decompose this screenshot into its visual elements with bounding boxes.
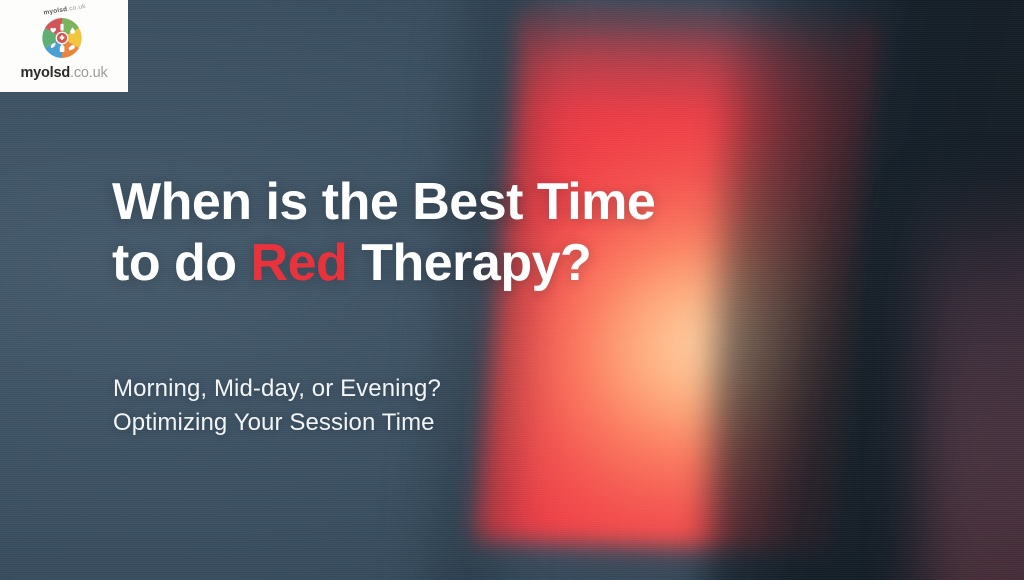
headline-accent-word: Red (251, 234, 348, 292)
subheadline: Morning, Mid-day, or Evening? Optimizing… (113, 372, 441, 440)
subheadline-line-2: Optimizing Your Session Time (113, 406, 441, 440)
brand-logo-card[interactable]: myolsd.co.uk (0, 0, 128, 92)
logo-arc-tld: .co.uk (67, 3, 86, 13)
headline-line-1: When is the Best Time (112, 172, 655, 233)
subheadline-line-1: Morning, Mid-day, or Evening? (113, 372, 441, 406)
logo-circle-icon (40, 16, 84, 60)
logo-mark: myolsd.co.uk (38, 5, 90, 57)
slide-canvas: myolsd.co.uk (0, 0, 1024, 580)
headline-line-2-post: Therapy? (347, 234, 591, 292)
logo-wordmark-tld: .co.uk (70, 65, 108, 81)
logo-arc-brand: myolsd (43, 6, 68, 17)
logo-wordmark: myolsd.co.uk (20, 65, 107, 81)
panel-right-purple-shadow (922, 174, 1024, 580)
logo-wordmark-brand: myolsd (20, 65, 70, 81)
headline-line-2-pre: to do (112, 234, 251, 292)
headline: When is the Best Time to do Red Therapy? (112, 172, 655, 294)
headline-line-2: to do Red Therapy? (112, 233, 655, 294)
